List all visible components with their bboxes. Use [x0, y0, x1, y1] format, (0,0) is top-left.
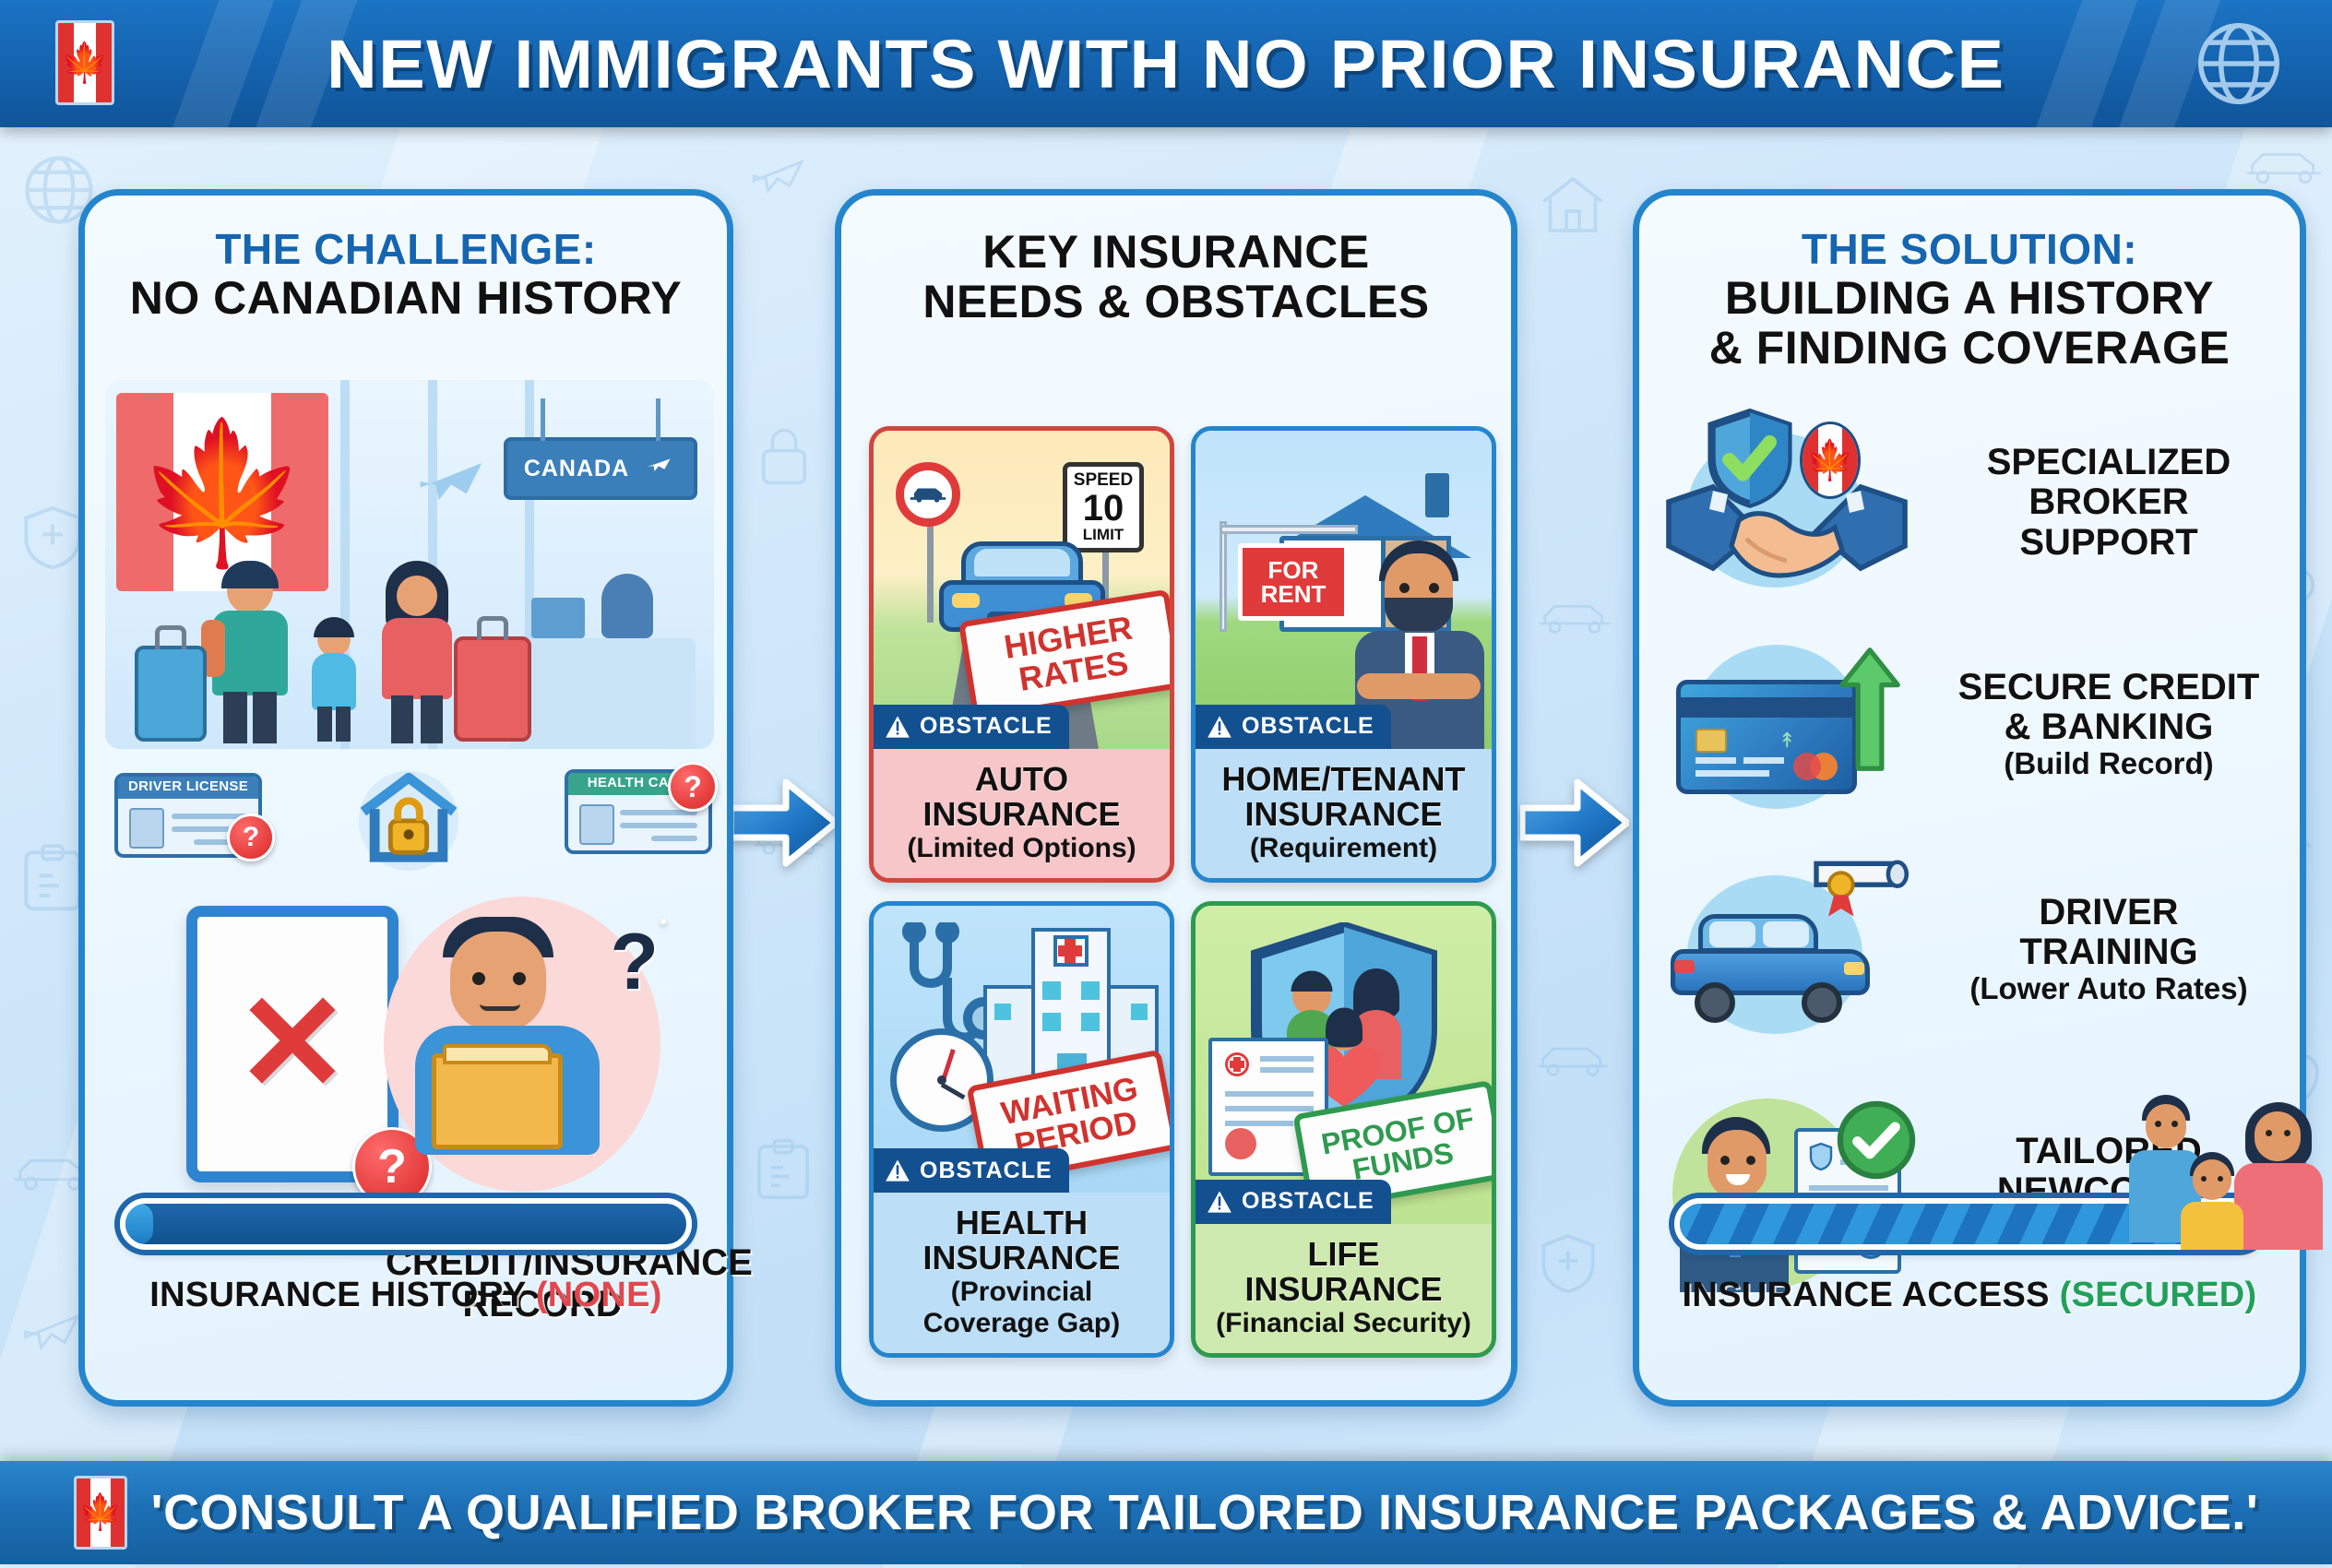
- footer-banner: 🍁 'CONSULT A QUALIFIED BROKER FOR TAILOR…: [0, 1461, 2332, 1564]
- x-mark: ✕: [235, 976, 350, 1112]
- panel-solution-title-line3: & FINDING COVERAGE: [1656, 323, 2283, 373]
- card-title2: INSURANCE: [1203, 797, 1484, 832]
- check-circle-icon: [1837, 1100, 1916, 1180]
- house-with-lock-icon: [349, 762, 469, 871]
- warning-triangle-icon: [885, 715, 910, 739]
- airplane-icon: [738, 148, 817, 205]
- card-life-insurance[interactable]: PROOF OF FUNDS OBSTACLE LIFE INSURANCE (…: [1191, 901, 1496, 1358]
- driver-training-text: DRIVER TRAINING (Lower Auto Rates): [1927, 893, 2290, 1005]
- family-icon: [2122, 1084, 2332, 1250]
- warning-triangle-icon: [885, 1158, 910, 1182]
- item-title: SPECIALIZED: [1927, 443, 2290, 482]
- item-title2: TRAINING: [1927, 932, 2290, 972]
- no-car-sign-icon: [896, 462, 960, 527]
- solution-item-driver-training[interactable]: DRIVER TRAINING (Lower Auto Rates): [1663, 852, 2290, 1046]
- obstacle-badge: OBSTACLE: [874, 1148, 1069, 1193]
- airplane-icon: [640, 452, 677, 486]
- airport-arrival-scene: 🍁 CANADA: [105, 380, 714, 749]
- card-title2: INSURANCE: [1203, 1272, 1484, 1307]
- panel-solution-title: THE SOLUTION: BUILDING A HISTORY & FINDI…: [1639, 196, 2300, 373]
- flow-arrow-2: [1520, 773, 1629, 873]
- driver-license-label: DRIVER LICENSE: [118, 778, 258, 794]
- solution-item-broker[interactable]: 🍁 SPECIALIZED BROKER SUPPORT: [1663, 406, 2290, 600]
- card-title: LIFE: [1203, 1237, 1484, 1272]
- card-title2: INSURANCE: [881, 1241, 1162, 1276]
- insurance-cards-grid: SPEED 10 LIMIT HIGHER RATES: [869, 426, 1496, 1358]
- card-title: HOME/TENANT: [1203, 762, 1484, 797]
- canada-airport-sign: CANADA: [504, 437, 697, 500]
- card-subtitle: (Provincial: [881, 1277, 1162, 1307]
- warning-triangle-icon: [1207, 1190, 1232, 1214]
- credit-card-up-arrow-icon: ↟: [1663, 632, 1912, 816]
- auto-card-art: SPEED 10 LIMIT HIGHER RATES: [874, 431, 1170, 749]
- question-mark-icon: ?: [610, 922, 659, 1002]
- obstacle-badge: OBSTACLE: [874, 705, 1069, 749]
- canada-flag-icon: 🍁: [74, 1476, 127, 1550]
- insurance-history-progress: INSURANCE HISTORY (NONE): [120, 1198, 692, 1315]
- suitcase-icon: [135, 646, 207, 742]
- lock-icon: [749, 420, 819, 493]
- progress-label: INSURANCE HISTORY (NONE): [120, 1276, 692, 1315]
- card-health-insurance[interactable]: WAITING PERIOD OBSTACLE HEALTH INSURANCE…: [869, 901, 1174, 1358]
- obstacle-badge: OBSTACLE: [1196, 1180, 1391, 1224]
- credit-card: ↟: [1676, 680, 1857, 794]
- stamp-line2: RENT: [1261, 582, 1327, 606]
- check-in-desk: [511, 638, 696, 749]
- immigrant-child-icon: [304, 622, 362, 742]
- home-card-art: FOR RENT OBS: [1196, 431, 1492, 749]
- panel-needs-title-line1: KEY INSURANCE: [858, 227, 1494, 277]
- warning-triangle-icon: [1207, 715, 1232, 739]
- panel-solution-title-line2: BUILDING A HISTORY: [1656, 273, 2283, 323]
- panel-needs-title-line2: NEEDS & OBSTACLES: [858, 277, 1494, 327]
- flow-arrow-1: [729, 773, 838, 873]
- stamp-line1: FOR: [1268, 558, 1319, 582]
- document-icons-row: DRIVER LICENSE ? HEALTH CARD: [101, 767, 723, 878]
- footer-quote: 'CONSULT A QUALIFIED BROKER FOR TAILORED…: [151, 1484, 2259, 1541]
- panel-challenge: THE CHALLENGE: NO CANADIAN HISTORY 🍁 CAN…: [78, 189, 733, 1407]
- car-icon: [1535, 590, 1614, 642]
- progress-status: (SECURED): [2060, 1276, 2257, 1314]
- auto-card-caption: AUTO INSURANCE (Limited Options): [874, 749, 1170, 878]
- canada-flag-maple-leaf-icon: 🍁: [55, 20, 114, 105]
- obstacle-badge: OBSTACLE: [1196, 705, 1391, 749]
- question-badge: ?: [227, 814, 275, 861]
- item-title3: SUPPORT: [1927, 523, 2290, 563]
- obstacle-label: OBSTACLE: [1242, 713, 1374, 740]
- panel-solution-title-line1: THE SOLUTION:: [1656, 227, 2283, 273]
- question-badge: ?: [668, 762, 718, 812]
- page-title: NEW IMMIGRANTS WITH NO PRIOR INSURANCE: [327, 25, 2005, 103]
- house-icon: [1531, 166, 1614, 244]
- canada-flag-icon: 🍁: [116, 393, 328, 591]
- card-subtitle2: Coverage Gap): [881, 1309, 1162, 1338]
- health-card-art: WAITING PERIOD OBSTACLE: [874, 906, 1170, 1193]
- panel-challenge-title-line1: THE CHALLENGE:: [101, 227, 710, 273]
- card-subtitle: (Financial Security): [1203, 1309, 1484, 1338]
- item-title: SECURE CREDIT: [1927, 668, 2290, 707]
- progress-label: INSURANCE ACCESS (SECURED): [1674, 1276, 2265, 1315]
- car-icon: [2242, 138, 2326, 192]
- panel-needs: KEY INSURANCE NEEDS & OBSTACLES SPEE: [835, 189, 1517, 1407]
- speed-limit-sign-icon: SPEED 10 LIMIT: [1063, 462, 1144, 552]
- clipboard-icon: [747, 1134, 819, 1206]
- worried-person-with-folder-icon: ?: [384, 897, 660, 1192]
- panel-challenge-title: THE CHALLENGE: NO CANADIAN HISTORY: [85, 196, 727, 323]
- monitor-icon: [531, 598, 585, 638]
- card-subtitle: (Limited Options): [881, 834, 1162, 863]
- card-auto-insurance[interactable]: SPEED 10 LIMIT HIGHER RATES: [869, 426, 1174, 883]
- immigrant-father-icon: [205, 566, 293, 742]
- handshake-shield-check-icon: 🍁: [1663, 410, 1912, 595]
- life-card-art: PROOF OF FUNDS OBSTACLE: [1196, 906, 1492, 1224]
- speed-sign-value: 10: [1083, 491, 1124, 526]
- header-banner: 🍁 NEW IMMIGRANTS WITH NO PRIOR INSURANCE: [0, 0, 2332, 127]
- card-home-tenant-insurance[interactable]: FOR RENT OBS: [1191, 426, 1496, 883]
- credit-text: SECURE CREDIT & BANKING (Build Record): [1927, 668, 2290, 780]
- progress-bar-track[interactable]: [120, 1198, 692, 1250]
- car-diploma-icon: [1663, 857, 1912, 1041]
- item-subtitle: (Build Record): [1927, 747, 2290, 780]
- card-subtitle: (Requirement): [1203, 834, 1484, 863]
- item-title: DRIVER: [1927, 893, 2290, 932]
- obstacle-label: OBSTACLE: [920, 713, 1053, 740]
- broker-text: SPECIALIZED BROKER SUPPORT: [1927, 443, 2290, 563]
- solution-item-credit[interactable]: ↟ SECURE CREDIT & BANKING (Build Record): [1663, 627, 2290, 821]
- card-title: AUTO: [881, 762, 1162, 797]
- progress-status: (NONE): [536, 1276, 662, 1314]
- progress-label-text: INSURANCE ACCESS: [1683, 1276, 2050, 1314]
- panel-needs-title: KEY INSURANCE NEEDS & OBSTACLES: [841, 196, 1511, 327]
- globe-icon: [2188, 13, 2290, 119]
- health-card-caption: HEALTH INSURANCE (Provincial Coverage Ga…: [874, 1193, 1170, 1353]
- immigrant-mother-icon: [375, 566, 459, 742]
- shield-cross-icon: [1531, 1227, 1605, 1301]
- airport-agent-icon: [601, 574, 653, 638]
- panel-challenge-title-line2: NO CANADIAN HISTORY: [101, 273, 710, 323]
- progress-label-text: INSURANCE HISTORY: [149, 1276, 526, 1314]
- airplane-icon: [400, 445, 502, 523]
- home-card-caption: HOME/TENANT INSURANCE (Requirement): [1196, 749, 1492, 878]
- card-title2: INSURANCE: [881, 797, 1162, 832]
- airport-sign-label: CANADA: [524, 456, 629, 482]
- obstacle-label: OBSTACLE: [1242, 1188, 1374, 1215]
- life-card-caption: LIFE INSURANCE (Financial Security): [1196, 1224, 1492, 1353]
- car-icon: [1533, 1033, 1612, 1085]
- item-subtitle: (Lower Auto Rates): [1927, 972, 2290, 1005]
- item-title2: & BANKING: [1927, 707, 2290, 747]
- item-title2: BROKER: [1927, 482, 2290, 522]
- card-title: HEALTH: [881, 1206, 1162, 1241]
- suitcase-icon: [454, 636, 531, 742]
- car-icon: [1671, 914, 1870, 1006]
- obstacle-label: OBSTACLE: [920, 1158, 1053, 1184]
